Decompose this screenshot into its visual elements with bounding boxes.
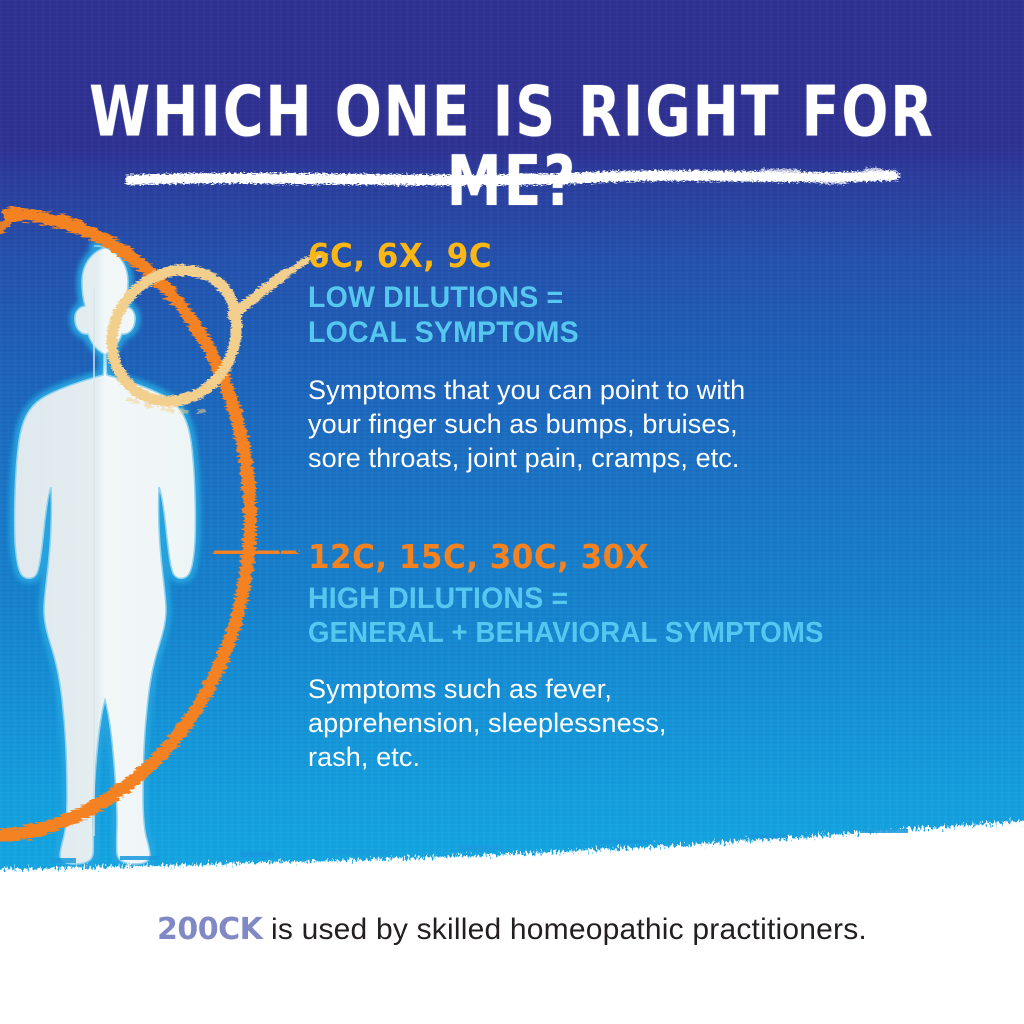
low-dilutions-subhead-line1: LOW DILUTIONS = [308, 281, 723, 316]
page-title: WHICH ONE IS RIGHT FOR ME? [15, 78, 1008, 217]
infographic-poster: WHICH ONE IS RIGHT FOR ME? 6C, 6X, 9C LO… [0, 0, 1024, 1024]
high-dilutions-subhead-line1: HIGH DILUTIONS = [308, 582, 824, 617]
footer-caption-text: is used by skilled homeopathic practitio… [262, 913, 867, 946]
low-dilutions-kicker: 6C, 6X, 9C [308, 236, 719, 275]
high-dilutions-kicker: 12C, 15C, 30C, 30X [308, 537, 818, 576]
footer-potency-label: 200CK [157, 912, 262, 947]
high-dilutions-body: Symptoms such as fever, apprehension, sl… [308, 672, 851, 774]
high-dilutions-block: 12C, 15C, 30C, 30X HIGH DILUTIONS = GENE… [308, 537, 851, 774]
low-dilutions-block: 6C, 6X, 9C LOW DILUTIONS = LOCAL SYMPTOM… [308, 236, 745, 475]
human-figure [0, 236, 272, 901]
low-dilutions-subhead-line2: LOCAL SYMPTOMS [308, 316, 723, 351]
high-dilutions-subhead-line2: GENERAL + BEHAVIORAL SYMPTOMS [308, 617, 824, 651]
footer-caption: 200CK is used by skilled homeopathic pra… [0, 912, 1024, 947]
low-dilutions-body: Symptoms that you can point to with your… [308, 373, 745, 475]
